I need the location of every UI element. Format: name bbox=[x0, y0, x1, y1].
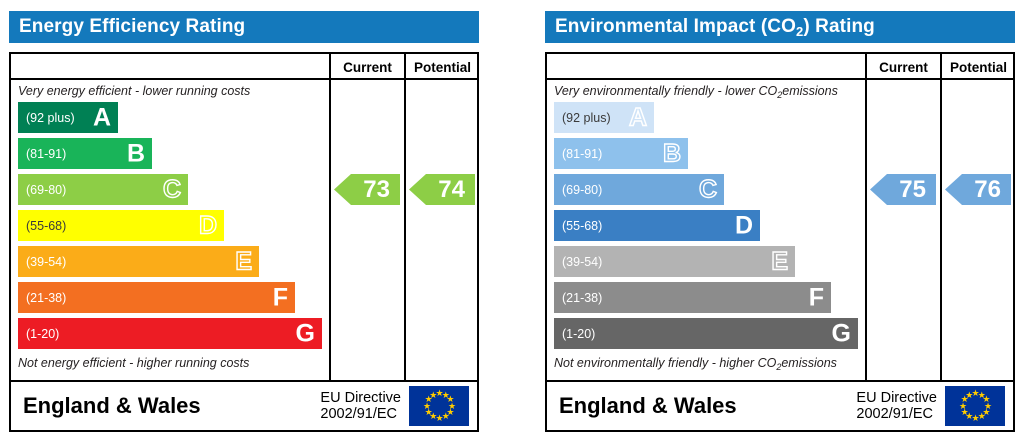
eu-flag-star: ★ bbox=[429, 392, 436, 399]
page-title: Energy Efficiency Rating bbox=[9, 16, 245, 38]
band-b: (81-91) B bbox=[18, 138, 152, 169]
band-a-co2: (92 plus) A bbox=[554, 102, 654, 133]
column-header-potential: Potential bbox=[406, 54, 479, 80]
current-rating-value: 73 bbox=[363, 178, 400, 202]
band-c-range: (69-80) bbox=[18, 183, 66, 197]
band-e-co2: (39-54) E bbox=[554, 246, 795, 277]
band-c-co2: (69-80) C bbox=[554, 174, 724, 205]
band-d: (55-68) D bbox=[18, 210, 224, 241]
column-divider-2 bbox=[404, 54, 406, 380]
band-f-co2-range: (21-38) bbox=[554, 291, 602, 305]
environmental-impact-frame: Current Potential Very environmentally f… bbox=[545, 52, 1015, 432]
band-e-co2-letter: E bbox=[771, 249, 788, 274]
potential-rating-value-co2: 76 bbox=[974, 178, 1011, 202]
band-e-co2-range: (39-54) bbox=[554, 255, 602, 269]
environmental-impact-title-bar: Environmental Impact (CO2) Rating bbox=[545, 11, 1015, 43]
footer-directive-text-co2: EU Directive 2002/91/EC bbox=[856, 390, 945, 422]
band-c-co2-letter: C bbox=[699, 177, 717, 202]
column-divider-1 bbox=[329, 54, 331, 380]
current-rating-arrow-co2: 75 bbox=[870, 174, 936, 205]
band-f: (21-38) F bbox=[18, 282, 295, 313]
co2-band-chart: Very environmentally friendly - lower CO… bbox=[547, 80, 865, 380]
band-g-co2-range: (1-20) bbox=[554, 327, 595, 341]
footer-bar-co2: England & Wales EU Directive 2002/91/EC … bbox=[547, 380, 1013, 430]
footer-directive-text: EU Directive 2002/91/EC bbox=[320, 390, 409, 422]
band-b-co2-range: (81-91) bbox=[554, 147, 602, 161]
eu-flag-icon: ★★★★★★★★★★★★ bbox=[409, 386, 469, 426]
band-e: (39-54) E bbox=[18, 246, 259, 277]
current-rating-value-co2: 75 bbox=[899, 178, 936, 202]
band-f-co2: (21-38) F bbox=[554, 282, 831, 313]
page-title-co2: Environmental Impact (CO2) Rating bbox=[545, 16, 875, 38]
energy-efficiency-frame: Current Potential Very energy efficient … bbox=[9, 52, 479, 432]
eu-flag-icon-co2: ★★★★★★★★★★★★ bbox=[945, 386, 1005, 426]
band-f-co2-letter: F bbox=[809, 285, 824, 310]
band-a: (92 plus) A bbox=[18, 102, 118, 133]
band-b-co2: (81-91) B bbox=[554, 138, 688, 169]
column-header-current: Current bbox=[331, 54, 404, 80]
band-a-co2-letter: A bbox=[629, 105, 647, 130]
energy-band-chart: Very energy efficient - lower running co… bbox=[11, 80, 329, 380]
footer-directive-line2-co2: 2002/91/EC bbox=[856, 406, 937, 422]
band-c-co2-range: (69-80) bbox=[554, 183, 602, 197]
energy-efficiency-title-bar: Energy Efficiency Rating bbox=[9, 11, 479, 43]
footer-directive-line2: 2002/91/EC bbox=[320, 406, 401, 422]
current-rating-cell: 73 bbox=[334, 174, 400, 205]
energy-efficiency-panel: Energy Efficiency Rating Current Potenti… bbox=[0, 0, 488, 442]
column-divider-1-co2 bbox=[865, 54, 867, 380]
potential-rating-arrow: 74 bbox=[409, 174, 475, 205]
band-a-letter: A bbox=[93, 105, 111, 130]
band-g-range: (1-20) bbox=[18, 327, 59, 341]
band-f-letter: F bbox=[273, 285, 288, 310]
band-b-range: (81-91) bbox=[18, 147, 66, 161]
co2-subscript-bottom: 2 bbox=[776, 362, 781, 372]
co2-subscript-top: 2 bbox=[777, 90, 782, 100]
band-b-letter: B bbox=[127, 141, 145, 166]
column-header-potential-co2: Potential bbox=[942, 54, 1015, 80]
band-f-range: (21-38) bbox=[18, 291, 66, 305]
band-d-letter: D bbox=[199, 213, 217, 238]
potential-rating-value: 74 bbox=[438, 178, 475, 202]
band-g-co2: (1-20) G bbox=[554, 318, 858, 349]
footer-bar: England & Wales EU Directive 2002/91/EC … bbox=[11, 380, 477, 430]
footer-region-label: England & Wales bbox=[11, 393, 320, 419]
potential-rating-cell: 74 bbox=[409, 174, 475, 205]
band-e-range: (39-54) bbox=[18, 255, 66, 269]
band-d-co2-range: (55-68) bbox=[554, 219, 602, 233]
environmental-impact-panel: Environmental Impact (CO2) Rating Curren… bbox=[536, 0, 1024, 442]
band-g-letter: G bbox=[296, 321, 315, 346]
band-c-letter: C bbox=[163, 177, 181, 202]
footer-region-label-co2: England & Wales bbox=[547, 393, 856, 419]
eu-flag-star: ★ bbox=[965, 392, 972, 399]
epc-rating-sheet: Energy Efficiency Rating Current Potenti… bbox=[0, 0, 1024, 442]
caption-not-efficient: Not energy efficient - higher running co… bbox=[18, 356, 249, 370]
footer-directive-line1-co2: EU Directive bbox=[856, 390, 937, 406]
caption-very-efficient: Very energy efficient - lower running co… bbox=[18, 84, 250, 98]
footer-directive-line1: EU Directive bbox=[320, 390, 401, 406]
band-g-co2-letter: G bbox=[832, 321, 851, 346]
band-a-co2-range: (92 plus) bbox=[554, 111, 611, 125]
caption-not-friendly: Not environmentally friendly - higher CO… bbox=[554, 356, 837, 370]
current-rating-arrow: 73 bbox=[334, 174, 400, 205]
band-d-range: (55-68) bbox=[18, 219, 66, 233]
band-d-co2-letter: D bbox=[735, 213, 753, 238]
band-b-co2-letter: B bbox=[663, 141, 681, 166]
band-d-co2: (55-68) D bbox=[554, 210, 760, 241]
caption-very-friendly: Very environmentally friendly - lower CO… bbox=[554, 84, 838, 98]
co2-subscript: 2 bbox=[796, 24, 803, 39]
band-g: (1-20) G bbox=[18, 318, 322, 349]
potential-rating-cell-co2: 76 bbox=[945, 174, 1011, 205]
column-divider-2-co2 bbox=[940, 54, 942, 380]
band-e-letter: E bbox=[235, 249, 252, 274]
current-rating-cell-co2: 75 bbox=[870, 174, 936, 205]
column-header-current-co2: Current bbox=[867, 54, 940, 80]
band-a-range: (92 plus) bbox=[18, 111, 75, 125]
potential-rating-arrow-co2: 76 bbox=[945, 174, 1011, 205]
band-c: (69-80) C bbox=[18, 174, 188, 205]
